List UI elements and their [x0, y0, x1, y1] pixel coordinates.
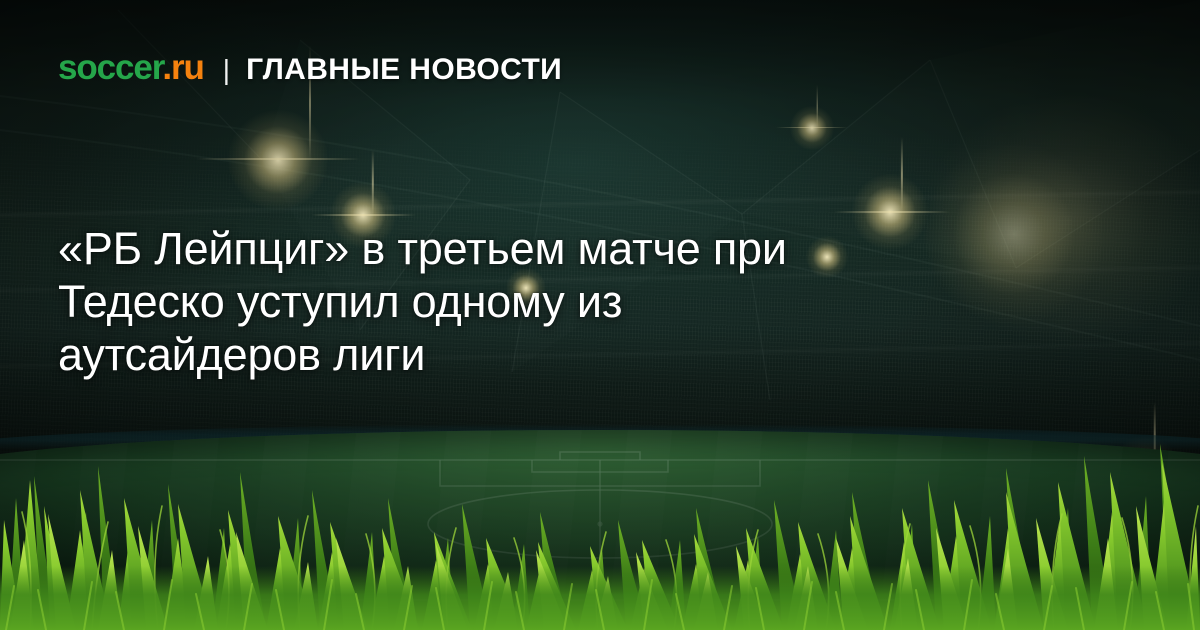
site-logo[interactable]: soccer.ru — [58, 50, 204, 85]
logo-suffix-text: .ru — [162, 48, 203, 87]
header-divider: | — [223, 56, 230, 84]
headline-line-1: «РБ Лейпциг» в третьем матче при — [58, 222, 1088, 275]
headline-line-3: аутсайдеров лиги — [58, 328, 1088, 381]
news-share-card: soccer.ru | ГЛАВНЫЕ НОВОСТИ «РБ Лейпциг»… — [0, 0, 1200, 630]
logo-primary-text: soccer — [58, 48, 162, 87]
header-kicker-label: ГЛАВНЫЕ НОВОСТИ — [246, 55, 562, 85]
site-header: soccer.ru | ГЛАВНЫЕ НОВОСТИ — [58, 50, 562, 85]
article-headline: «РБ Лейпциг» в третьем матче при Тедеско… — [58, 222, 1088, 381]
headline-line-2: Тедеско уступил одному из — [58, 275, 1088, 328]
